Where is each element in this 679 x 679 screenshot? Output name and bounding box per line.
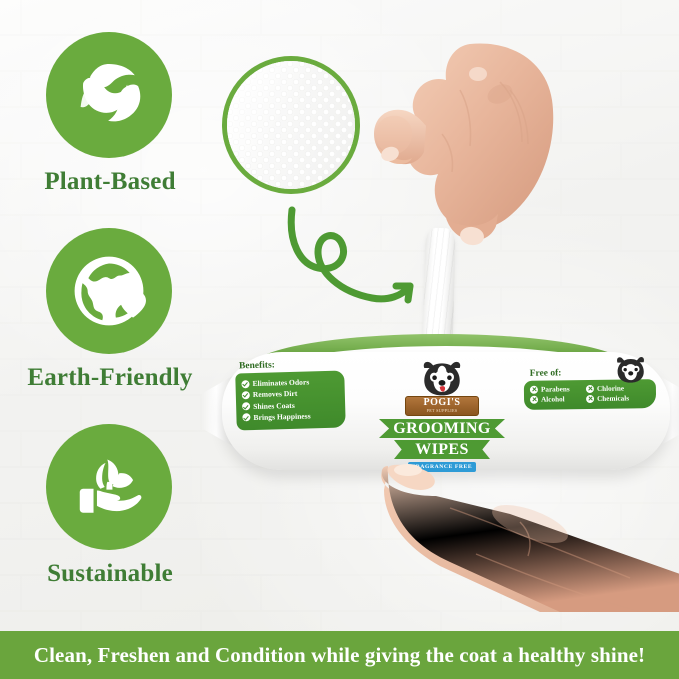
benefit-label: Shines Coats	[253, 400, 295, 410]
free-of-item: Parabens	[530, 385, 582, 394]
check-icon	[242, 413, 250, 421]
benefit-item: Removes Dirt	[242, 388, 340, 400]
benefit-item: Shines Coats	[242, 399, 340, 411]
brand-tagline: PET SUPPLIES	[406, 408, 478, 413]
benefit-item: Eliminates Odors	[241, 377, 339, 389]
banner-text: Clean, Freshen and Condition while givin…	[34, 643, 645, 668]
product-package: Benefits: Eliminates Odors Removes Dirt …	[222, 352, 670, 470]
free-of-item: Chemicals	[586, 394, 638, 403]
feature-list: Plant-Based Earth-Friendly	[0, 32, 220, 620]
free-of-label: Parabens	[541, 385, 570, 393]
feature-label: Plant-Based	[0, 168, 220, 196]
brand-name: POGI'S	[406, 398, 478, 408]
free-of-label: Alcohol	[541, 395, 565, 403]
benefit-label: Brings Happiness	[253, 411, 310, 422]
free-of-item: Alcohol	[530, 395, 582, 404]
benefit-item: Brings Happiness	[242, 410, 340, 422]
benefit-label: Eliminates Odors	[252, 378, 309, 389]
boston-terrier-dog-icon	[416, 360, 468, 400]
hand-holding-package-icon	[380, 462, 679, 612]
benefit-label: Removes Dirt	[253, 389, 298, 399]
wipe-fabric-closeup-icon	[222, 56, 360, 194]
bottom-banner: Clean, Freshen and Condition while givin…	[0, 631, 679, 679]
free-of-label: Chlorine	[597, 385, 624, 393]
feature-earth-friendly: Earth-Friendly	[0, 228, 220, 424]
product-line-1: GROOMING	[379, 419, 505, 438]
benefits-panel: Benefits: Eliminates Odors Removes Dirt …	[235, 370, 346, 430]
cross-icon	[530, 396, 538, 404]
benefits-title: Benefits:	[239, 360, 275, 371]
free-of-title: Free of:	[530, 368, 562, 378]
product-line-2: WIPES	[394, 440, 490, 459]
check-icon	[242, 402, 250, 410]
cross-icon	[586, 395, 594, 403]
hand-sprout-icon	[46, 424, 172, 550]
check-icon	[241, 380, 249, 388]
recycling-leaves-icon	[46, 32, 172, 158]
feature-label: Earth-Friendly	[0, 364, 220, 392]
free-of-panel: Free of: Parabens	[524, 379, 656, 410]
boston-terrier-dog-icon	[611, 355, 649, 386]
brand-logo: POGI'S PET SUPPLIES GROOMING WIPES FRAGR…	[376, 360, 508, 472]
feature-plant-based: Plant-Based	[0, 32, 220, 228]
feature-label: Sustainable	[0, 560, 220, 588]
feature-sustainable: Sustainable	[0, 424, 220, 620]
globe-heart-icon	[46, 228, 172, 354]
check-icon	[242, 391, 250, 399]
product-marketing-image: Plant-Based Earth-Friendly	[0, 0, 679, 679]
brand-signboard: POGI'S PET SUPPLIES	[405, 396, 479, 416]
free-of-label: Chemicals	[597, 394, 629, 402]
cross-icon	[586, 385, 594, 393]
cross-icon	[530, 386, 538, 394]
